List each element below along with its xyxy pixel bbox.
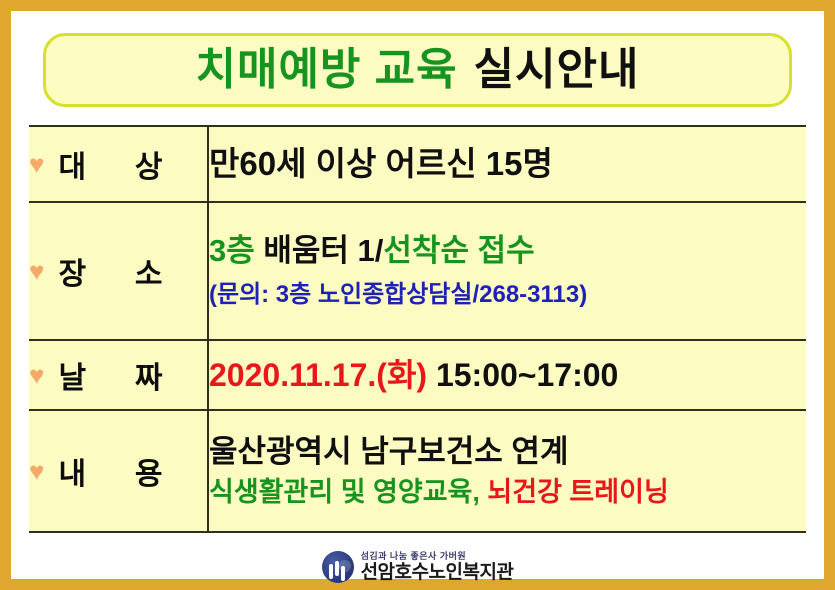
place-green-1: 3층 [209, 233, 255, 268]
label-text-content: 내 용 [58, 449, 162, 493]
organization-logo-icon [322, 551, 354, 583]
info-table: ♥ 대 상 만60세 이상 어르신 15명 ♥ [29, 125, 806, 533]
label-char-2: 상 [135, 142, 163, 186]
heart-icon: ♥ [29, 458, 44, 484]
label-text-target: 대 상 [58, 142, 162, 186]
content-line-2: 식생활관리 및 영양교육, 뇌건강 트레이닝 [209, 477, 806, 508]
place-value-text: 3층 배움터 1/선착순 접수 [209, 233, 806, 269]
content-red-part: 뇌건강 트레이닝 [487, 477, 668, 507]
logo-text-wrap: 섬김과 나눔 좋은사 가버원 선암호수노인복지관 [361, 552, 514, 582]
footer-logo: 섬김과 나눔 좋은사 가버원 선암호수노인복지관 [29, 545, 806, 589]
label-char-2: 짜 [135, 353, 163, 397]
heart-icon: ♥ [29, 362, 44, 388]
title-part-green: 치매예방 교육 [195, 45, 457, 94]
place-black: 배움터 1/ [255, 233, 384, 268]
place-green-2: 선착순 접수 [383, 233, 534, 268]
label-char-1: 내 [58, 449, 86, 493]
poster-inner: 치매예방 교육실시안내 ♥ 대 상 만60세 이상 어르신 15명 [11, 11, 824, 579]
label-cell-target: ♥ 대 상 [29, 126, 208, 202]
label-char-1: 장 [58, 249, 86, 293]
value-cell-content: 울산광역시 남구보건소 연계 식생활관리 및 영양교육, 뇌건강 트레이닝 [208, 410, 806, 532]
heart-icon: ♥ [29, 258, 44, 284]
table-row-content: ♥ 내 용 울산광역시 남구보건소 연계 식생활관리 및 영양교육, 뇌건강 트… [29, 410, 806, 532]
label-cell-content: ♥ 내 용 [29, 410, 208, 532]
date-black-part: 15:00~17:00 [427, 357, 618, 393]
label-text-date: 날 짜 [58, 353, 162, 397]
target-value-text: 만60세 이상 어르신 15명 [209, 145, 806, 183]
poster-title-banner: 치매예방 교육실시안내 [43, 33, 792, 107]
date-value-text: 2020.11.17.(화) 15:00~17:00 [209, 357, 806, 394]
date-red-part: 2020.11.17.(화) [209, 357, 427, 393]
content-green-part: 식생활관리 및 영양교육, [209, 477, 487, 507]
value-cell-target: 만60세 이상 어르신 15명 [208, 126, 806, 202]
label-inner-target: ♥ 대 상 [29, 142, 207, 186]
poster-frame: 치매예방 교육실시안내 ♥ 대 상 만60세 이상 어르신 15명 [0, 0, 835, 590]
label-char-2: 용 [135, 449, 163, 493]
label-char-1: 대 [58, 142, 86, 186]
label-inner-date: ♥ 날 짜 [29, 353, 207, 397]
label-inner-place: ♥ 장 소 [29, 249, 207, 293]
title-part-black: 실시안내 [474, 45, 640, 94]
table-row-target: ♥ 대 상 만60세 이상 어르신 15명 [29, 126, 806, 202]
logo-organization-name: 선암호수노인복지관 [361, 563, 514, 582]
label-inner-content: ♥ 내 용 [29, 449, 207, 493]
heart-icon: ♥ [29, 151, 44, 177]
place-contact-note: (문의: 3층 노인종합상담실/268-3113) [209, 281, 806, 309]
label-cell-place: ♥ 장 소 [29, 202, 208, 340]
label-text-place: 장 소 [58, 249, 162, 293]
value-cell-date: 2020.11.17.(화) 15:00~17:00 [208, 340, 806, 410]
label-char-1: 날 [58, 353, 86, 397]
page-title: 치매예방 교육실시안내 [195, 48, 639, 92]
table-row-date: ♥ 날 짜 2020.11.17.(화) 15:00~17:00 [29, 340, 806, 410]
content-line-1: 울산광역시 남구보건소 연계 [209, 434, 806, 470]
label-cell-date: ♥ 날 짜 [29, 340, 208, 410]
value-cell-place: 3층 배움터 1/선착순 접수 (문의: 3층 노인종합상담실/268-3113… [208, 202, 806, 340]
logo-slogan: 섬김과 나눔 좋은사 가버원 [361, 552, 514, 561]
table-row-place: ♥ 장 소 3층 배움터 1/선착순 접수 (문의: 3층 노인종합상담실/26… [29, 202, 806, 340]
label-char-2: 소 [135, 249, 163, 293]
